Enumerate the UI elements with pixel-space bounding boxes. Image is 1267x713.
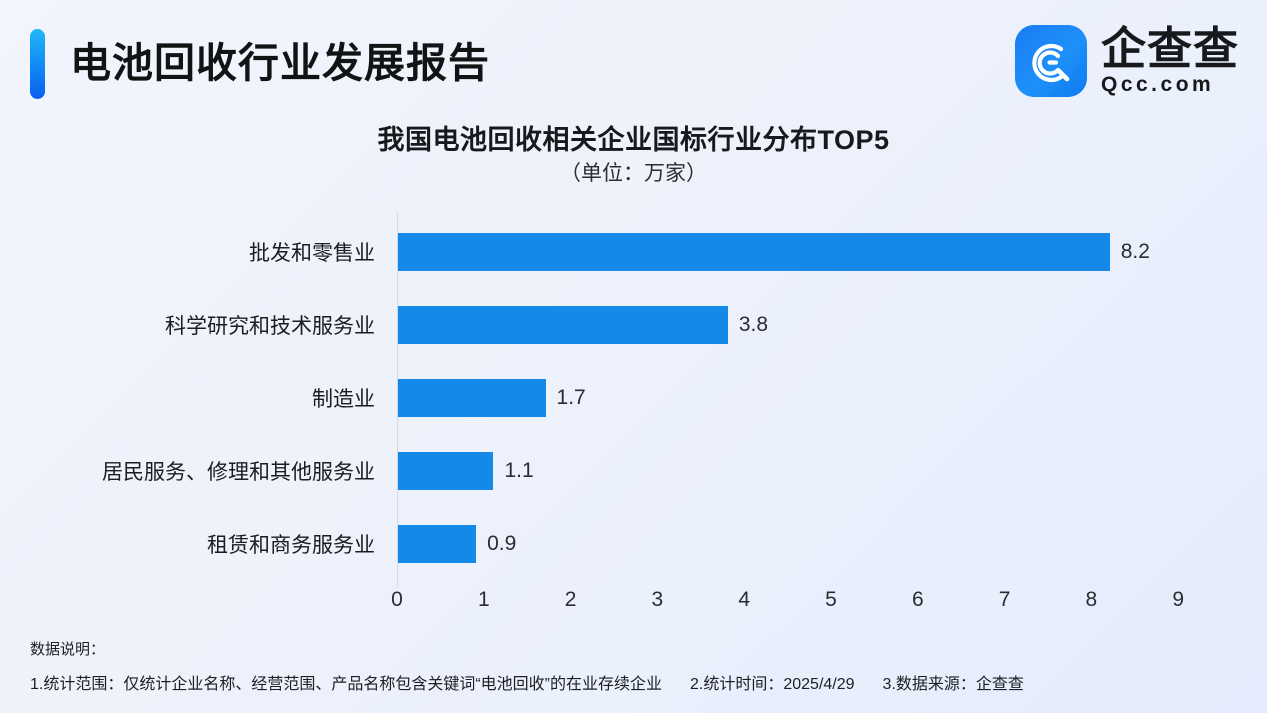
footer-notes: 1.统计范围：仅统计企业名称、经营范围、产品名称包含关键词“电池回收”的在业存续… (30, 670, 1240, 694)
bar-fill[interactable] (398, 379, 546, 417)
x-tick-label: 1 (464, 588, 504, 612)
footer-note-scope: 1.统计范围：仅统计企业名称、经营范围、产品名称包含关键词“电池回收”的在业存续… (30, 670, 662, 694)
bar-track: 3.8 (398, 288, 768, 361)
footer-heading: 数据说明： (30, 638, 105, 659)
bar-track: 0.9 (398, 507, 516, 580)
bar-value-label: 8.2 (1121, 240, 1150, 264)
x-tick-label: 2 (551, 588, 591, 612)
bar-row: 居民服务、修理和其他服务业1.1 (0, 434, 1267, 507)
bar-category-label: 制造业 (0, 361, 375, 434)
x-tick-label: 6 (898, 588, 938, 612)
bar-fill[interactable] (398, 525, 476, 563)
x-tick-label: 3 (637, 588, 677, 612)
bar-fill[interactable] (398, 306, 728, 344)
chart-title: 我国电池回收相关企业国标行业分布TOP5 (0, 118, 1267, 157)
bar-category-label: 科学研究和技术服务业 (0, 288, 375, 361)
bar-value-label: 3.8 (739, 313, 768, 337)
brand-logo: 企查查 Qcc.com (1015, 21, 1239, 101)
page-header: 电池回收行业发展报告 企查查 Qcc.com (0, 0, 1267, 112)
chart-subtitle: （单位：万家） (0, 157, 1267, 187)
x-tick-label: 8 (1071, 588, 1111, 612)
brand-name-cn: 企查查 (1101, 25, 1239, 73)
brand-name-en: Qcc.com (1101, 73, 1239, 97)
bar-row: 制造业1.7 (0, 361, 1267, 434)
x-tick-label: 4 (724, 588, 764, 612)
x-tick-label: 0 (377, 588, 417, 612)
bar-row: 租赁和商务服务业0.9 (0, 507, 1267, 580)
footer-note-source: 3.数据来源：企查查 (883, 670, 1024, 694)
x-axis: 0123456789 (0, 588, 1267, 622)
bar-value-label: 1.7 (557, 386, 586, 410)
footer-notes-block: 数据说明： 1.统计范围：仅统计企业名称、经营范围、产品名称包含关键词“电池回收… (0, 634, 1267, 713)
bar-row: 科学研究和技术服务业3.8 (0, 288, 1267, 361)
brand-wordmark: 企查查 Qcc.com (1101, 24, 1239, 98)
bar-track: 1.1 (398, 434, 534, 507)
x-tick-label: 5 (811, 588, 851, 612)
bar-chart: 批发和零售业8.2科学研究和技术服务业3.8制造业1.7居民服务、修理和其他服务… (0, 205, 1267, 625)
bar-category-label: 租赁和商务服务业 (0, 507, 375, 580)
header-accent-bar (30, 29, 45, 99)
bar-fill[interactable] (398, 233, 1110, 271)
bar-track: 1.7 (398, 361, 586, 434)
footer-note-date: 2.统计时间：2025/4/29 (690, 670, 855, 694)
page-title: 电池回收行业发展报告 (70, 27, 490, 99)
bar-row: 批发和零售业8.2 (0, 215, 1267, 288)
bar-fill[interactable] (398, 452, 493, 490)
report-page: 电池回收行业发展报告 企查查 Qcc.com (0, 0, 1267, 713)
x-tick-label: 9 (1158, 588, 1198, 612)
x-tick-label: 7 (985, 588, 1025, 612)
bar-category-label: 居民服务、修理和其他服务业 (0, 434, 375, 507)
bar-track: 8.2 (398, 215, 1150, 288)
bar-value-label: 1.1 (504, 459, 533, 483)
bar-value-label: 0.9 (487, 532, 516, 556)
bar-category-label: 批发和零售业 (0, 215, 375, 288)
qcc-logo-icon (1015, 25, 1087, 97)
